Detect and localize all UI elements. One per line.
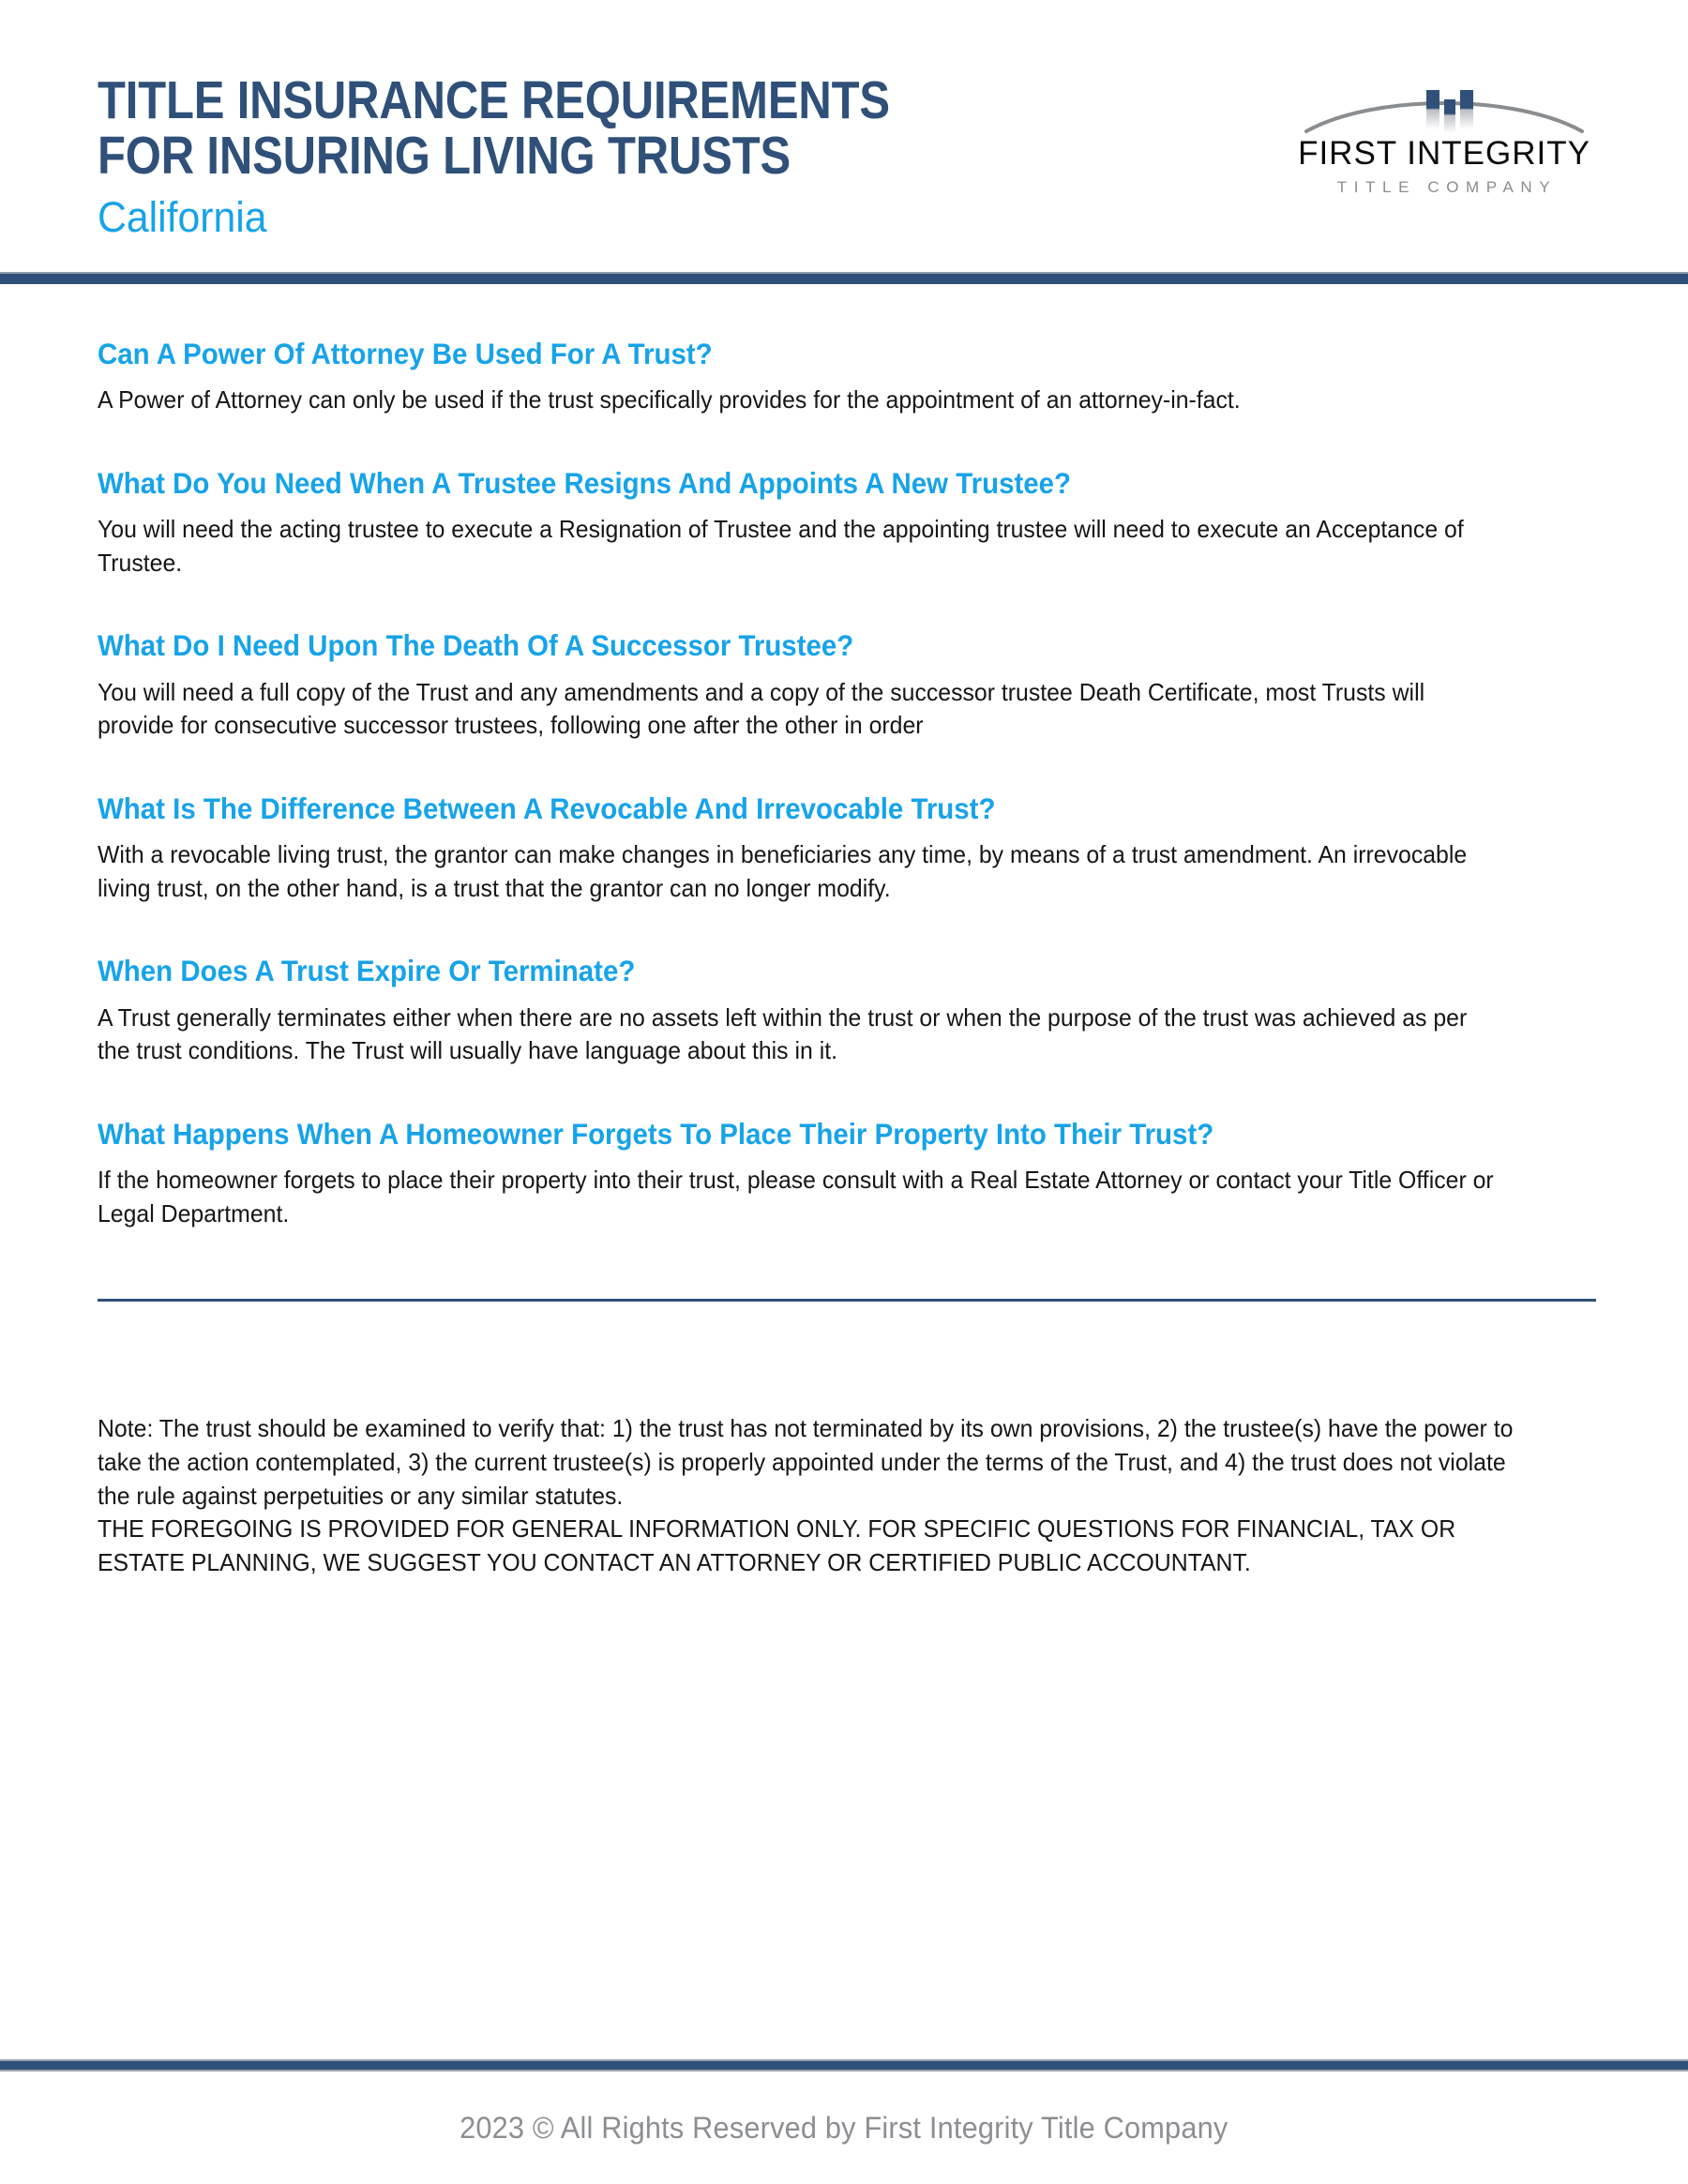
page-title-line-2: FOR INSURING LIVING TRUSTS (98, 128, 890, 184)
faq-answer: With a revocable living trust, the grant… (98, 838, 1505, 905)
document-page: TITLE INSURANCE REQUIREMENTS FOR INSURIN… (0, 0, 1688, 2184)
faq-question: What Do I Need Upon The Death Of A Succe… (98, 629, 1501, 662)
company-logo: FIRST INTEGRITY TITLE COMPANY (1289, 0, 1599, 195)
faq-question: What Do You Need When A Trustee Resigns … (98, 467, 1501, 500)
faq-item: When Does A Trust Expire Or Terminate? A… (98, 955, 1599, 1067)
faq-question: What Is The Difference Between A Revocab… (98, 792, 1501, 825)
footer-copyright: 2023 © All Rights Reserved by First Inte… (460, 2111, 1228, 2146)
footer-divider-bar (0, 2059, 1688, 2071)
disclaimer-paragraph-1: Note: The trust should be examined to ve… (98, 1412, 1530, 1513)
document-header: TITLE INSURANCE REQUIREMENTS FOR INSURIN… (0, 0, 1688, 272)
faq-answer: A Power of Attorney can only be used if … (98, 384, 1505, 417)
faq-question: What Happens When A Homeowner Forgets To… (98, 1118, 1501, 1151)
faq-question: When Does A Trust Expire Or Terminate? (98, 955, 1501, 987)
faq-answer: You will need a full copy of the Trust a… (98, 676, 1505, 743)
faq-answer: You will need the acting trustee to exec… (98, 513, 1505, 580)
page-subtitle-state: California (98, 195, 972, 239)
faq-question: Can A Power Of Attorney Be Used For A Tr… (98, 338, 1501, 370)
logo-mark-icon (1289, 86, 1599, 141)
disclaimer-paragraph-2: THE FOREGOING IS PROVIDED FOR GENERAL IN… (98, 1513, 1530, 1579)
faq-answer: A Trust generally terminates either when… (98, 1002, 1505, 1068)
faq-answer: If the homeowner forgets to place their … (98, 1164, 1505, 1230)
faq-item: What Do I Need Upon The Death Of A Succe… (98, 629, 1599, 742)
document-footer: 2023 © All Rights Reserved by First Inte… (0, 2071, 1688, 2184)
faq-item: What Happens When A Homeowner Forgets To… (98, 1118, 1599, 1230)
logo-tagline: TITLE COMPANY (1289, 179, 1599, 195)
logo-company-name: FIRST INTEGRITY (1289, 137, 1599, 170)
faq-item: Can A Power Of Attorney Be Used For A Tr… (98, 338, 1599, 417)
header-divider-bar (0, 272, 1688, 284)
title-block: TITLE INSURANCE REQUIREMENTS FOR INSURIN… (98, 0, 1018, 240)
faq-item: What Do You Need When A Trustee Resigns … (98, 467, 1599, 580)
document-body: Can A Power Of Attorney Be Used For A Tr… (0, 284, 1688, 2059)
faq-item: What Is The Difference Between A Revocab… (98, 792, 1599, 905)
page-title-line-1: TITLE INSURANCE REQUIREMENTS (98, 73, 890, 128)
faq-list: Can A Power Of Attorney Be Used For A Tr… (98, 284, 1599, 1230)
section-divider-rule (98, 1299, 1596, 1302)
disclaimer-note: Note: The trust should be examined to ve… (98, 1412, 1530, 1579)
